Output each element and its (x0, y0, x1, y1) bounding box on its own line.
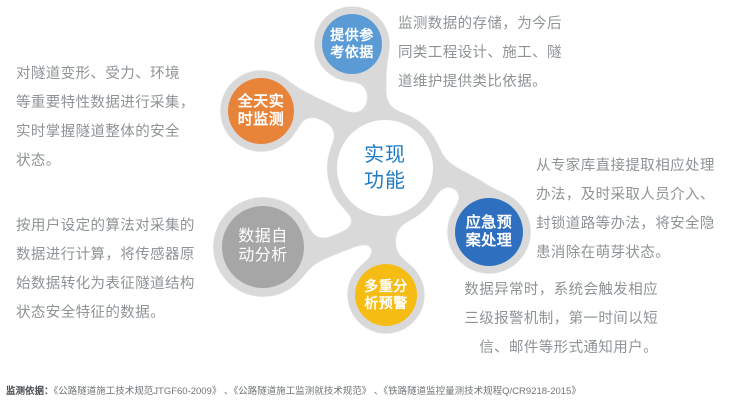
node-emergency[interactable]: 应急预 案处理 (455, 198, 523, 266)
node-analysis-label-1: 数据自 (238, 228, 288, 247)
center-node-label-1: 实现 (364, 142, 406, 168)
center-node[interactable]: 实现 功能 (337, 120, 433, 216)
footer-text: 《公路隧道施工技术规范JTGF60-2009》 、《公路隧道施工监测就技术规范》… (54, 386, 581, 397)
node-monitor-label-1: 全天实 (238, 93, 285, 111)
description-storage: 监测数据的存储，为今后 同类工程设计、施工、隧 道维护提供类比依据。 (398, 10, 603, 97)
footer-label: 监测依据： (6, 386, 54, 397)
node-reference-label-2: 考依据 (330, 44, 374, 61)
node-analysis[interactable]: 数据自 动分析 (222, 206, 304, 288)
node-reference[interactable]: 提供参 考依据 (322, 14, 382, 74)
description-collect: 对隧道变形、受力、环境 等重要特性数据进行采集， 实时掌握隧道整体的安全 状态。 (16, 60, 216, 176)
description-compute: 按用户设定的算法对采集的 数据进行计算，将传感器原 始数据转化为表征隧道结构 状… (16, 212, 224, 328)
node-reference-label-1: 提供参 (330, 27, 374, 44)
description-expert: 从专家库直接提取相应处理 办法，及时采取人员介入、 封锁道路等办法，将安全隐 患… (536, 152, 732, 268)
node-analysis-label-2: 动分析 (238, 247, 288, 266)
center-node-label-2: 功能 (364, 168, 406, 194)
node-emergency-label-1: 应急预 (466, 214, 513, 232)
node-warning-label-1: 多重分 (364, 278, 408, 295)
node-warning-label-2: 析预警 (364, 295, 408, 312)
node-emergency-label-2: 案处理 (466, 232, 513, 250)
node-monitor[interactable]: 全天实 时监测 (228, 78, 294, 144)
description-alarm: 数据异常时，系统会触发相应 三级报警机制，第一时间以短 信、邮件等形式通知用户。 (446, 276, 658, 363)
diagram-canvas: 实现 功能 提供参 考依据 全天实 时监测 数据自 动分析 多重分 析预警 应急… (0, 0, 734, 409)
node-warning[interactable]: 多重分 析预警 (355, 264, 417, 326)
node-monitor-label-2: 时监测 (238, 111, 285, 129)
footer-note: 监测依据：《公路隧道施工技术规范JTGF60-2009》 、《公路隧道施工监测就… (6, 383, 728, 397)
